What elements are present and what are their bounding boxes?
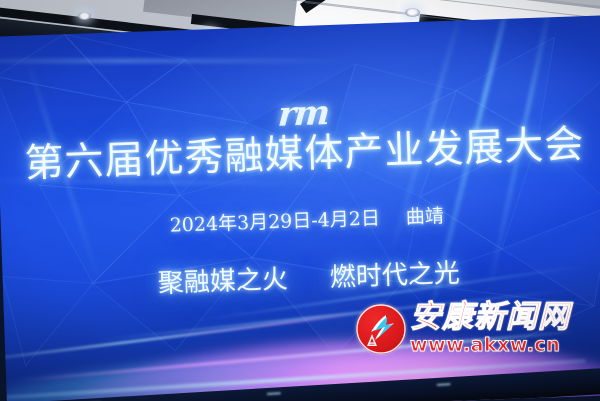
event-location: 曲靖 [405, 205, 444, 228]
event-date-location: 2024年3月29日-4月2日曲靖 [0, 195, 600, 243]
event-slogan: 聚融媒之火燃时代之光 [2, 247, 600, 305]
slogan-left: 聚融媒之火 [157, 265, 288, 300]
swallow-bird-icon [356, 304, 406, 354]
akxw-emblem-icon [356, 304, 406, 354]
site-url: www.akxw.cn [410, 336, 570, 355]
event-date: 2024年3月29日-4月2日 [169, 207, 380, 236]
photograph-conference-backdrop: rm 第六届优秀融媒体产业发展大会 2024年3月29日-4月2日曲靖 聚融媒之… [0, 0, 600, 401]
slogan-right: 燃时代之光 [329, 259, 460, 294]
watermark: 安康新闻网 www.akxw.cn [356, 302, 600, 372]
watermark-text: 安康新闻网 www.akxw.cn [410, 302, 570, 355]
site-name: 安康新闻网 [410, 302, 570, 333]
base-glint [267, 392, 281, 395]
base-glint [437, 383, 451, 386]
